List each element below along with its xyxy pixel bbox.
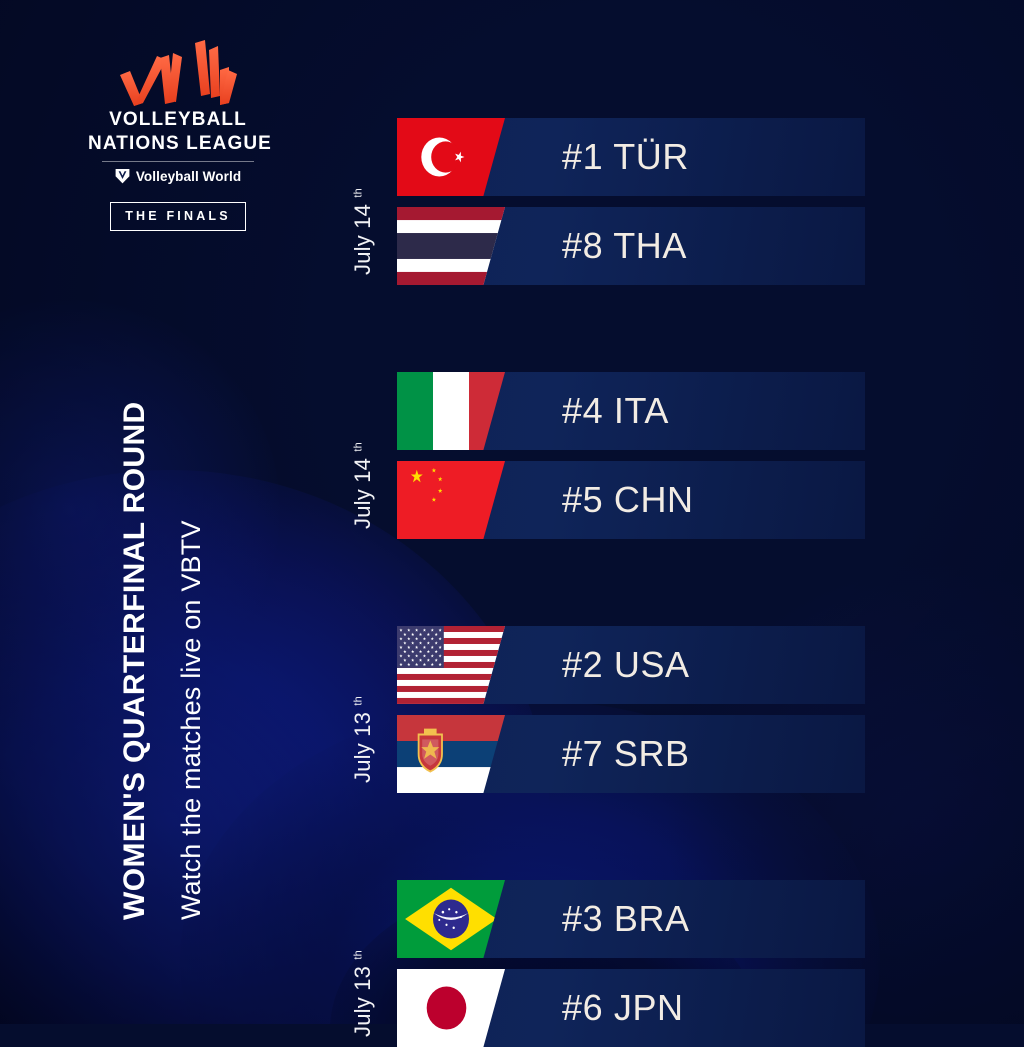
match-date-label: July 14 th [350, 188, 376, 275]
match-row[interactable]: #5 CHN [397, 461, 865, 539]
match-row[interactable]: #3 BRA [397, 880, 865, 958]
bracket-rows: #1 TÜR #8 THA #4 ITA #5 CHN [0, 0, 1024, 1024]
match-row[interactable]: #4 ITA [397, 372, 865, 450]
match-date-suffix: th [353, 696, 365, 706]
match-row[interactable]: #6 JPN [397, 969, 865, 1047]
team-label: #8 THA [562, 207, 687, 285]
team-label: #3 BRA [562, 880, 690, 958]
match-date-text: July 13 [350, 960, 375, 1037]
team-label: #5 CHN [562, 461, 694, 539]
match-date-suffix: th [353, 188, 365, 198]
team-label: #7 SRB [562, 715, 690, 793]
match-date-label: July 13 th [350, 696, 376, 783]
match-date-text: July 13 [350, 706, 375, 783]
team-label: #4 ITA [562, 372, 669, 450]
match-date-text: July 14 [350, 452, 375, 529]
team-label: #1 TÜR [562, 118, 689, 196]
match-date-suffix: th [353, 950, 365, 960]
match-date-suffix: th [353, 442, 365, 452]
match-row[interactable]: #8 THA [397, 207, 865, 285]
team-label: #6 JPN [562, 969, 684, 1047]
team-label: #2 USA [562, 626, 690, 704]
match-row[interactable]: #7 SRB [397, 715, 865, 793]
match-row[interactable]: #1 TÜR [397, 118, 865, 196]
match-row[interactable]: #2 USA [397, 626, 865, 704]
match-date-text: July 14 [350, 198, 375, 275]
match-date-label: July 14 th [350, 442, 376, 529]
